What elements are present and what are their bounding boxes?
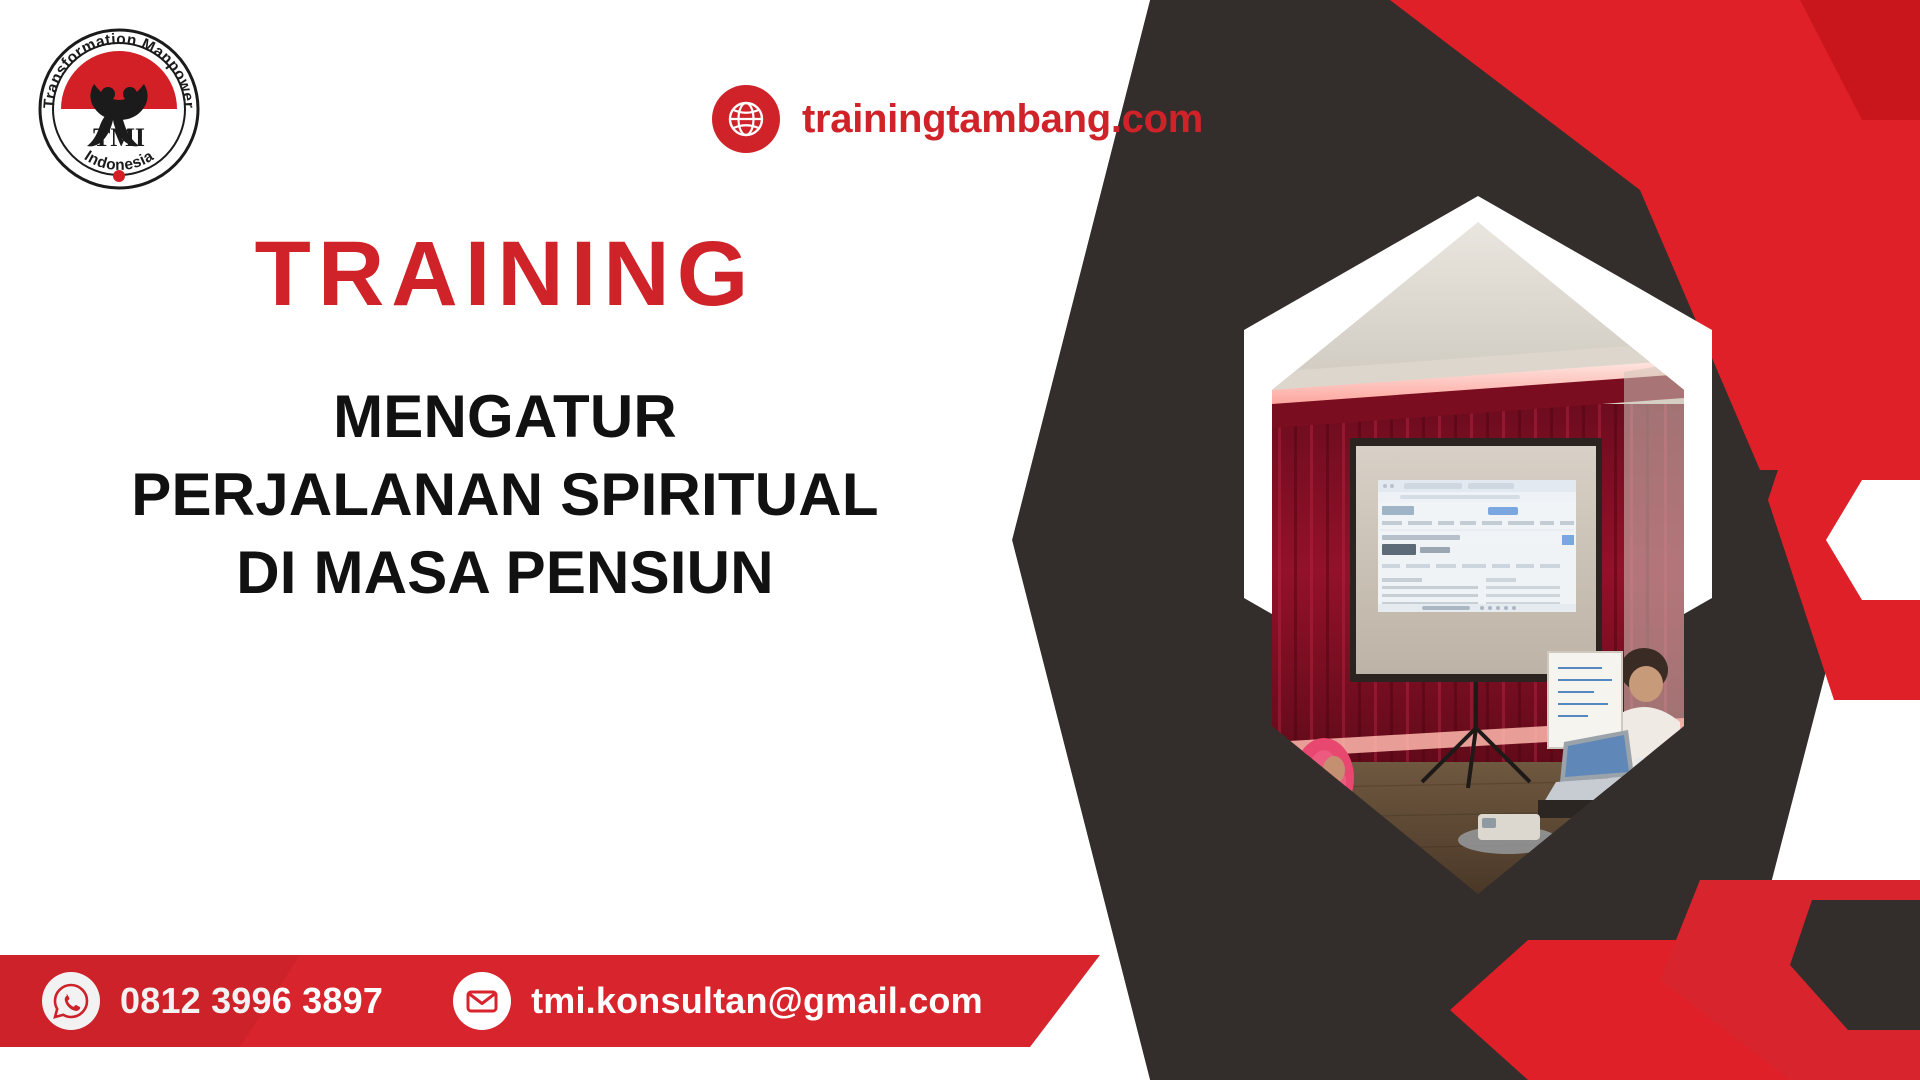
contact-bar: 0812 3996 3897 tmi.konsultan@gmail.com xyxy=(0,955,1100,1047)
website-row[interactable]: trainingtambang.com xyxy=(712,85,1203,153)
envelope-icon xyxy=(453,972,511,1030)
headline-block: TRAINING MENGATUR PERJALANAN SPIRITUAL D… xyxy=(0,228,1010,612)
logo-monogram: TMI xyxy=(93,123,145,152)
contact-email[interactable]: tmi.konsultan@gmail.com xyxy=(453,972,983,1030)
phone-number[interactable]: 0812 3996 3897 xyxy=(120,980,383,1022)
headline-subject: MENGATUR PERJALANAN SPIRITUAL DI MASA PE… xyxy=(0,378,1010,612)
headline-kicker: TRAINING xyxy=(0,228,1010,320)
email-address[interactable]: tmi.konsultan@gmail.com xyxy=(531,980,983,1022)
website-url[interactable]: trainingtambang.com xyxy=(802,97,1203,142)
headline-line-3: DI MASA PENSIUN xyxy=(0,534,1010,612)
tmi-logo: TMI Transformation Manpower Indonesia xyxy=(28,18,210,200)
photo-illustration xyxy=(1272,222,1684,894)
headline-line-2: PERJALANAN SPIRITUAL xyxy=(0,456,1010,534)
headline-line-1: MENGATUR xyxy=(0,378,1010,456)
globe-icon xyxy=(712,85,780,153)
whatsapp-icon xyxy=(42,972,100,1030)
contact-phone[interactable]: 0812 3996 3897 xyxy=(42,972,383,1030)
training-room-photo xyxy=(1272,222,1684,894)
promo-banner: TMI Transformation Manpower Indonesia tr… xyxy=(0,0,1920,1080)
